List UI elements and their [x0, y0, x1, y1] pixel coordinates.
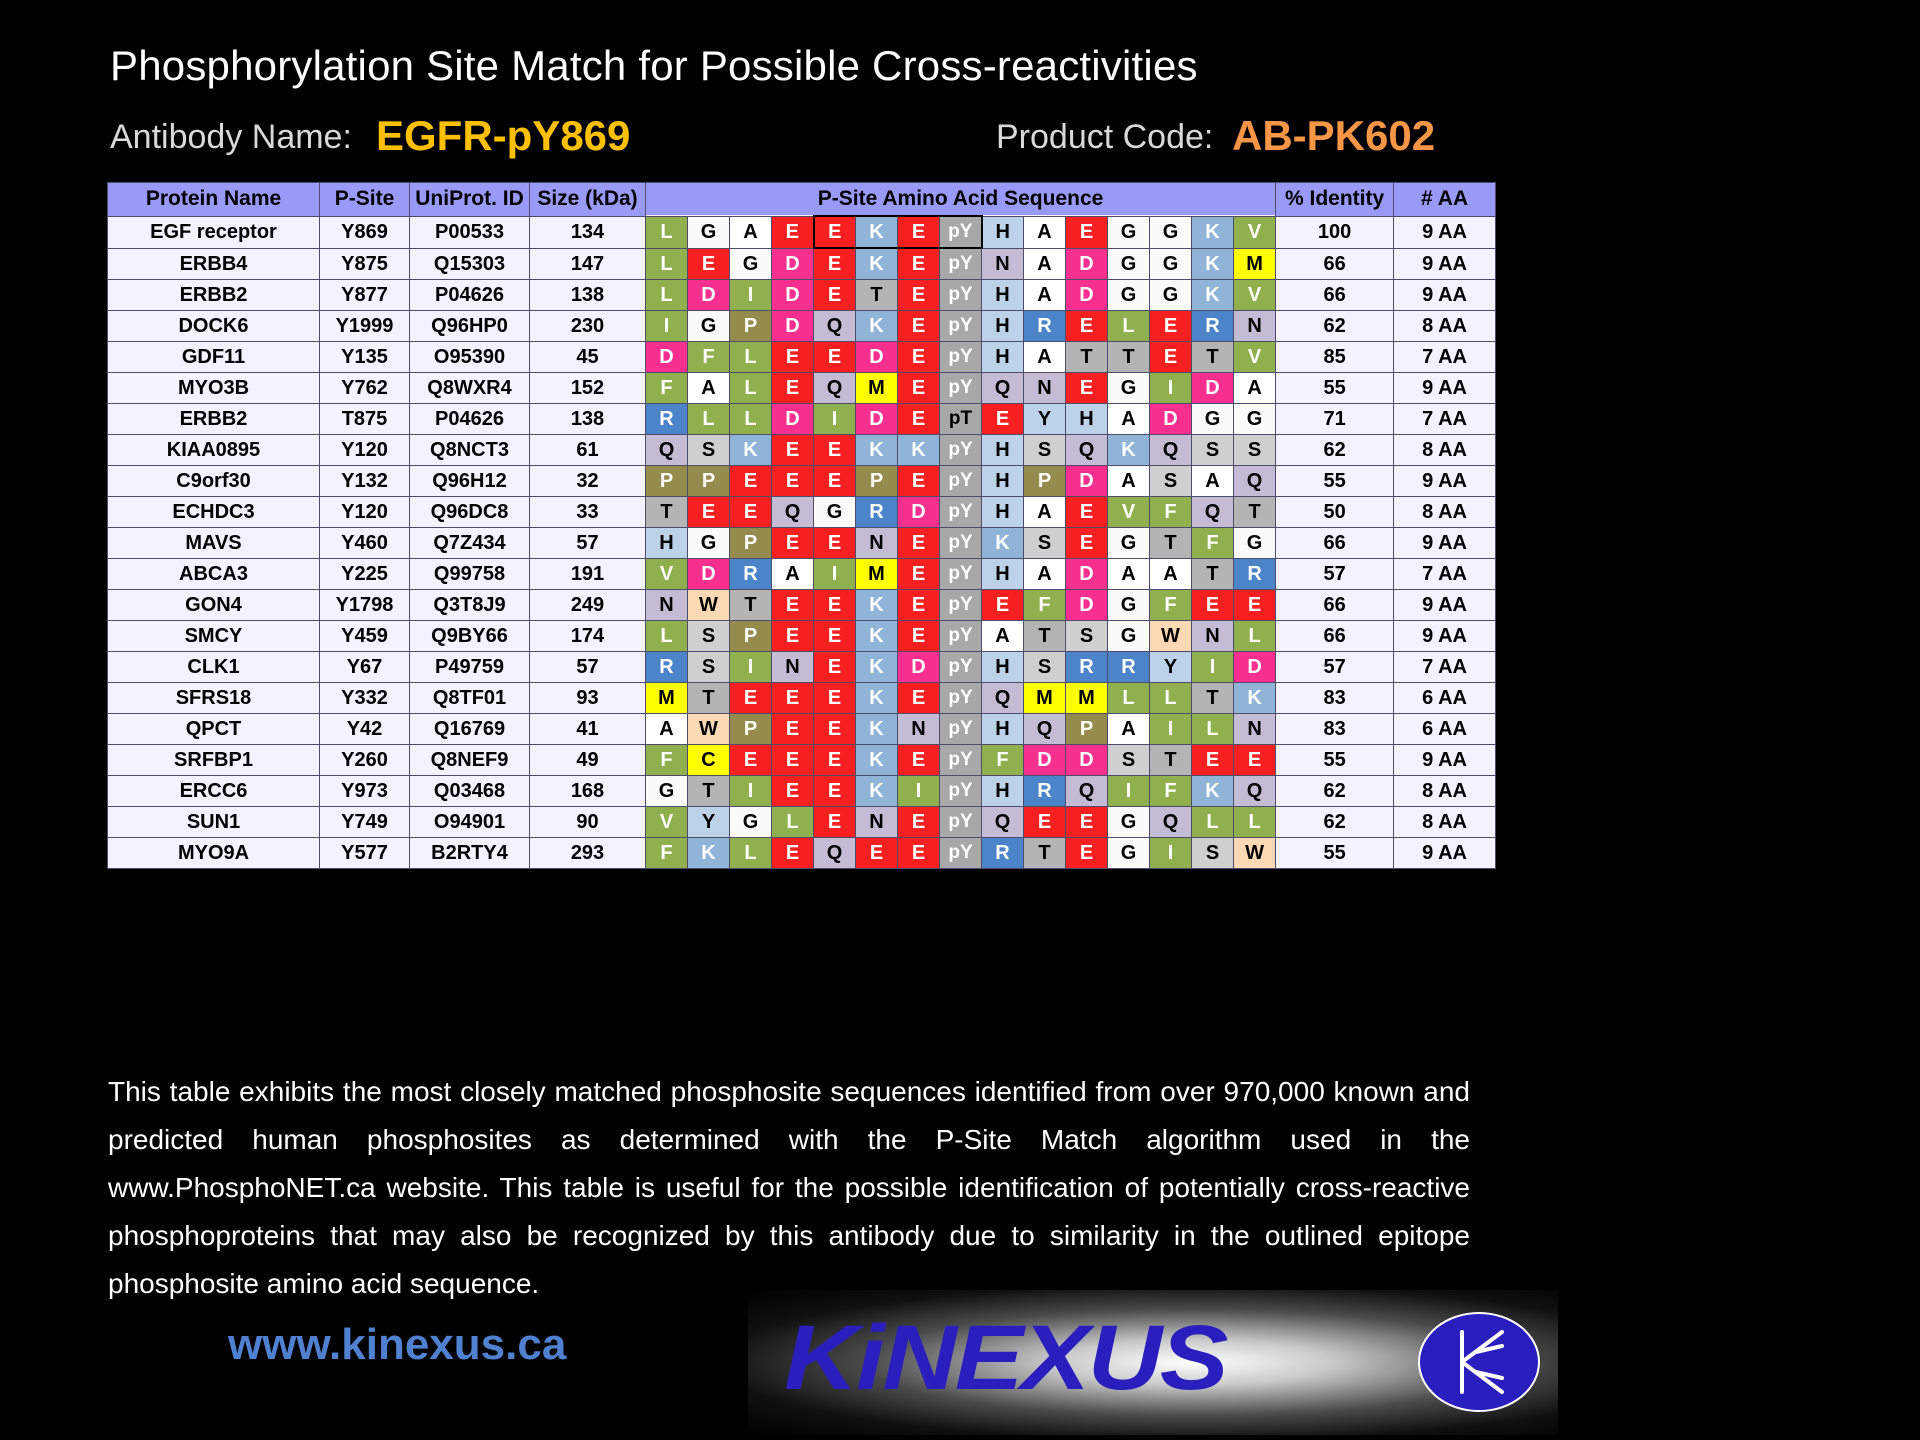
cell-amino-acid: G: [688, 216, 730, 248]
cell-amino-acid: D: [1066, 559, 1108, 590]
cell-num-aa: 7 AA: [1394, 559, 1496, 590]
cell-amino-acid: E: [1066, 311, 1108, 342]
cell-amino-acid: Q: [1150, 807, 1192, 838]
cell-amino-acid: T: [1108, 342, 1150, 373]
table-row: SMCYY459Q9BY66174LSPEEKEpYATSGWNL669 AA: [108, 621, 1496, 652]
cell-amino-acid: K: [856, 216, 898, 248]
cell-protein-name: SMCY: [108, 621, 320, 652]
cell-amino-acid: L: [1192, 714, 1234, 745]
antibody-product-row: Antibody Name: EGFR-pY869 Product Code: …: [110, 112, 1480, 164]
cell-amino-acid: V: [646, 559, 688, 590]
cell-amino-acid: E: [772, 683, 814, 714]
table-row: SRFBP1Y260Q8NEF949FCEEEKEpYFDDSTEE559 AA: [108, 745, 1496, 776]
cell-size-kda: 249: [530, 590, 646, 621]
cell-num-aa: 8 AA: [1394, 435, 1496, 466]
table-row: ECHDC3Y120Q96DC833TEEQGRDpYHAEVFQT508 AA: [108, 497, 1496, 528]
cell-amino-acid: E: [898, 280, 940, 311]
table-header: Protein Name P-Site UniProt. ID Size (kD…: [108, 183, 1496, 217]
table-row: KIAA0895Y120Q8NCT361QSKEEKKpYHSQKQSS628 …: [108, 435, 1496, 466]
cell-amino-acid: N: [856, 807, 898, 838]
cell-amino-acid: E: [1066, 216, 1108, 248]
table-row: GON4Y1798Q3T8J9249NWTEEKEpYEFDGFEE669 AA: [108, 590, 1496, 621]
cell-p-site: Y42: [320, 714, 410, 745]
cell-amino-acid: A: [1150, 559, 1192, 590]
cell-amino-acid: E: [898, 248, 940, 280]
cell-amino-acid: G: [1150, 248, 1192, 280]
cell-amino-acid: W: [1150, 621, 1192, 652]
cell-uniprot-id: Q96DC8: [410, 497, 530, 528]
cell-size-kda: 147: [530, 248, 646, 280]
cell-amino-acid: D: [772, 311, 814, 342]
cell-amino-acid: E: [898, 683, 940, 714]
cell-amino-acid: Y: [688, 807, 730, 838]
cell-uniprot-id: O94901: [410, 807, 530, 838]
cell-p-site: T875: [320, 404, 410, 435]
cell-amino-acid: Q: [814, 838, 856, 869]
cell-amino-acid: D: [1066, 248, 1108, 280]
cell-protein-name: GON4: [108, 590, 320, 621]
cell-amino-acid: L: [1234, 807, 1276, 838]
cell-amino-acid: pY: [940, 342, 982, 373]
cell-amino-acid: K: [856, 714, 898, 745]
cell-amino-acid: E: [1150, 311, 1192, 342]
col-percent-identity: % Identity: [1276, 183, 1394, 217]
product-code-value: AB-PK602: [1232, 112, 1435, 160]
cell-p-site: Y67: [320, 652, 410, 683]
cell-size-kda: 41: [530, 714, 646, 745]
cell-amino-acid: G: [1234, 404, 1276, 435]
cell-amino-acid: E: [772, 528, 814, 559]
cell-amino-acid: E: [898, 528, 940, 559]
cell-amino-acid: D: [1066, 280, 1108, 311]
cell-size-kda: 57: [530, 528, 646, 559]
cell-amino-acid: D: [688, 280, 730, 311]
cell-amino-acid: L: [730, 404, 772, 435]
cell-amino-acid: K: [856, 621, 898, 652]
cell-p-site: Y120: [320, 435, 410, 466]
cell-amino-acid: G: [688, 311, 730, 342]
cell-amino-acid: R: [1024, 311, 1066, 342]
cell-amino-acid: I: [730, 280, 772, 311]
cell-amino-acid: P: [730, 714, 772, 745]
cell-num-aa: 9 AA: [1394, 373, 1496, 404]
cell-amino-acid: A: [1024, 559, 1066, 590]
cell-num-aa: 8 AA: [1394, 497, 1496, 528]
cell-p-site: Y225: [320, 559, 410, 590]
cell-amino-acid: P: [1024, 466, 1066, 497]
cell-amino-acid: G: [646, 776, 688, 807]
cell-amino-acid: R: [1192, 311, 1234, 342]
cell-amino-acid: E: [1234, 590, 1276, 621]
cell-amino-acid: I: [730, 776, 772, 807]
cell-num-aa: 9 AA: [1394, 216, 1496, 248]
cell-amino-acid: pY: [940, 216, 982, 248]
cell-percent-identity: 71: [1276, 404, 1394, 435]
table-row: QPCTY42Q1676941AWPEEKNpYHQPAILN836 AA: [108, 714, 1496, 745]
kinexus-logo-text: KiNEXUS: [784, 1306, 1226, 1411]
logo-k-glyph: [1418, 1312, 1540, 1412]
cell-amino-acid: pY: [940, 280, 982, 311]
cell-amino-acid: G: [1108, 248, 1150, 280]
cell-amino-acid: pY: [940, 652, 982, 683]
cell-p-site: Y459: [320, 621, 410, 652]
cell-amino-acid: V: [1234, 342, 1276, 373]
cell-amino-acid: S: [1108, 745, 1150, 776]
cell-percent-identity: 57: [1276, 559, 1394, 590]
cell-amino-acid: E: [814, 248, 856, 280]
table-row: ERBB2T875P04626138RLLDIDEpTEYHADGG717 AA: [108, 404, 1496, 435]
cell-amino-acid: A: [1024, 280, 1066, 311]
cell-size-kda: 152: [530, 373, 646, 404]
cell-amino-acid: I: [814, 404, 856, 435]
cell-amino-acid: E: [1066, 373, 1108, 404]
cell-num-aa: 8 AA: [1394, 311, 1496, 342]
cell-amino-acid: Q: [1066, 435, 1108, 466]
cell-amino-acid: M: [646, 683, 688, 714]
cell-size-kda: 61: [530, 435, 646, 466]
cell-amino-acid: G: [730, 248, 772, 280]
cell-protein-name: DOCK6: [108, 311, 320, 342]
cell-amino-acid: K: [856, 311, 898, 342]
cell-amino-acid: S: [1192, 435, 1234, 466]
cell-amino-acid: I: [898, 776, 940, 807]
cell-amino-acid: E: [772, 776, 814, 807]
cell-amino-acid: A: [730, 216, 772, 248]
cell-amino-acid: E: [688, 497, 730, 528]
cell-amino-acid: D: [898, 652, 940, 683]
cell-amino-acid: L: [730, 838, 772, 869]
cell-amino-acid: E: [814, 590, 856, 621]
cell-amino-acid: L: [1108, 683, 1150, 714]
cell-protein-name: ERBB2: [108, 280, 320, 311]
kinexus-logo: KiNEXUS: [748, 1290, 1558, 1435]
cell-amino-acid: L: [730, 373, 772, 404]
cell-amino-acid: A: [1108, 559, 1150, 590]
cell-amino-acid: E: [898, 373, 940, 404]
cell-amino-acid: S: [1024, 528, 1066, 559]
cell-amino-acid: D: [1150, 404, 1192, 435]
cell-protein-name: MYO9A: [108, 838, 320, 869]
cell-amino-acid: C: [688, 745, 730, 776]
cell-amino-acid: A: [1024, 248, 1066, 280]
cell-amino-acid: A: [1024, 216, 1066, 248]
cell-amino-acid: P: [730, 621, 772, 652]
cell-protein-name: ERCC6: [108, 776, 320, 807]
cell-amino-acid: K: [1192, 280, 1234, 311]
table-row: DOCK6Y1999Q96HP0230IGPDQKEpYHRELERN628 A…: [108, 311, 1496, 342]
cell-amino-acid: N: [1192, 621, 1234, 652]
cell-percent-identity: 55: [1276, 838, 1394, 869]
table-row: CLK1Y67P4975957RSINEKDpYHSRRYID577 AA: [108, 652, 1496, 683]
cell-amino-acid: M: [856, 373, 898, 404]
cell-size-kda: 138: [530, 404, 646, 435]
cell-amino-acid: D: [772, 248, 814, 280]
cell-amino-acid: Q: [814, 373, 856, 404]
cell-amino-acid: T: [1234, 497, 1276, 528]
cell-amino-acid: A: [1234, 373, 1276, 404]
cell-amino-acid: A: [1108, 714, 1150, 745]
cell-amino-acid: I: [646, 311, 688, 342]
cell-amino-acid: E: [730, 497, 772, 528]
cell-amino-acid: F: [1150, 590, 1192, 621]
cell-amino-acid: F: [1150, 776, 1192, 807]
cell-amino-acid: L: [1150, 683, 1192, 714]
table-row: GDF11Y135O9539045DFLEEDEpYHATTETV857 AA: [108, 342, 1496, 373]
table-header-row: Protein Name P-Site UniProt. ID Size (kD…: [108, 183, 1496, 217]
cell-amino-acid: Q: [1066, 776, 1108, 807]
cell-percent-identity: 50: [1276, 497, 1394, 528]
cell-amino-acid: pY: [940, 807, 982, 838]
cell-amino-acid: D: [1024, 745, 1066, 776]
cell-amino-acid: pT: [940, 404, 982, 435]
cell-percent-identity: 66: [1276, 590, 1394, 621]
cell-amino-acid: K: [856, 248, 898, 280]
cell-amino-acid: G: [1150, 216, 1192, 248]
cell-amino-acid: H: [982, 559, 1024, 590]
cell-amino-acid: E: [1192, 590, 1234, 621]
cell-amino-acid: H: [646, 528, 688, 559]
cell-amino-acid: D: [898, 497, 940, 528]
table-row: MYO3BY762Q8WXR4152FALEQMEpYQNEGIDA559 AA: [108, 373, 1496, 404]
cell-amino-acid: E: [772, 745, 814, 776]
cell-amino-acid: H: [982, 652, 1024, 683]
cell-uniprot-id: Q3T8J9: [410, 590, 530, 621]
cell-amino-acid: S: [688, 652, 730, 683]
cell-num-aa: 9 AA: [1394, 280, 1496, 311]
cell-amino-acid: P: [1066, 714, 1108, 745]
cell-percent-identity: 62: [1276, 807, 1394, 838]
cell-amino-acid: N: [1024, 373, 1066, 404]
cell-amino-acid: D: [1066, 590, 1108, 621]
cell-amino-acid: E: [772, 714, 814, 745]
cell-amino-acid: E: [898, 621, 940, 652]
cell-amino-acid: S: [1066, 621, 1108, 652]
cell-amino-acid: T: [1192, 342, 1234, 373]
cell-uniprot-id: Q8NCT3: [410, 435, 530, 466]
cell-size-kda: 174: [530, 621, 646, 652]
cell-amino-acid: A: [772, 559, 814, 590]
cell-amino-acid: R: [646, 404, 688, 435]
cell-percent-identity: 62: [1276, 435, 1394, 466]
cell-amino-acid: G: [1108, 621, 1150, 652]
cell-amino-acid: K: [688, 838, 730, 869]
cell-amino-acid: T: [646, 497, 688, 528]
cell-amino-acid: E: [1150, 342, 1192, 373]
cell-amino-acid: N: [898, 714, 940, 745]
cell-protein-name: ECHDC3: [108, 497, 320, 528]
cell-amino-acid: E: [898, 466, 940, 497]
cell-amino-acid: H: [1066, 404, 1108, 435]
cell-amino-acid: I: [814, 559, 856, 590]
cell-amino-acid: E: [1024, 807, 1066, 838]
cell-uniprot-id: Q99758: [410, 559, 530, 590]
cell-amino-acid: S: [1192, 838, 1234, 869]
cell-amino-acid: L: [1108, 311, 1150, 342]
cell-amino-acid: M: [856, 559, 898, 590]
col-p-site: P-Site: [320, 183, 410, 217]
cell-size-kda: 230: [530, 311, 646, 342]
cell-amino-acid: R: [982, 838, 1024, 869]
cell-amino-acid: pY: [940, 745, 982, 776]
cell-size-kda: 134: [530, 216, 646, 248]
cell-amino-acid: pY: [940, 559, 982, 590]
cell-size-kda: 57: [530, 652, 646, 683]
cell-amino-acid: G: [1108, 838, 1150, 869]
cell-amino-acid: E: [898, 807, 940, 838]
cell-num-aa: 9 AA: [1394, 466, 1496, 497]
cell-amino-acid: Q: [1150, 435, 1192, 466]
cell-p-site: Y260: [320, 745, 410, 776]
cell-amino-acid: I: [1150, 714, 1192, 745]
cell-num-aa: 9 AA: [1394, 838, 1496, 869]
cell-percent-identity: 100: [1276, 216, 1394, 248]
cell-amino-acid: G: [1108, 807, 1150, 838]
cell-amino-acid: S: [688, 435, 730, 466]
cell-amino-acid: E: [814, 776, 856, 807]
cell-percent-identity: 85: [1276, 342, 1394, 373]
cell-size-kda: 90: [530, 807, 646, 838]
cell-amino-acid: N: [772, 652, 814, 683]
cell-amino-acid: P: [730, 311, 772, 342]
table-row: ERCC6Y973Q03468168GTIEEKIpYHRQIFKQ628 AA: [108, 776, 1496, 807]
cell-percent-identity: 66: [1276, 248, 1394, 280]
cell-amino-acid: E: [772, 466, 814, 497]
cell-protein-name: C9orf30: [108, 466, 320, 497]
cell-amino-acid: T: [730, 590, 772, 621]
cell-amino-acid: F: [646, 373, 688, 404]
cell-amino-acid: Q: [772, 497, 814, 528]
cell-uniprot-id: Q96H12: [410, 466, 530, 497]
cell-amino-acid: E: [772, 435, 814, 466]
cell-amino-acid: F: [688, 342, 730, 373]
website-link[interactable]: www.kinexus.ca: [228, 1320, 566, 1370]
cell-uniprot-id: O95390: [410, 342, 530, 373]
cell-amino-acid: H: [982, 342, 1024, 373]
cell-amino-acid: E: [898, 559, 940, 590]
cell-amino-acid: E: [982, 590, 1024, 621]
cell-amino-acid: S: [688, 621, 730, 652]
cell-amino-acid: E: [814, 714, 856, 745]
description-paragraph: This table exhibits the most closely mat…: [108, 1068, 1470, 1308]
cell-amino-acid: D: [1066, 466, 1108, 497]
col-size-kda: Size (kDa): [530, 183, 646, 217]
cell-protein-name: SUN1: [108, 807, 320, 838]
cell-amino-acid: G: [1150, 280, 1192, 311]
cell-amino-acid: G: [814, 497, 856, 528]
cell-amino-acid: pY: [940, 311, 982, 342]
cell-amino-acid: F: [982, 745, 1024, 776]
cell-amino-acid: Q: [1192, 497, 1234, 528]
table-row: ABCA3Y225Q99758191VDRAIMEpYHADAATR577 AA: [108, 559, 1496, 590]
cell-amino-acid: K: [856, 683, 898, 714]
cell-uniprot-id: Q03468: [410, 776, 530, 807]
cell-uniprot-id: P49759: [410, 652, 530, 683]
cell-amino-acid: pY: [940, 435, 982, 466]
cell-amino-acid: T: [1150, 528, 1192, 559]
cell-protein-name: EGF receptor: [108, 216, 320, 248]
cell-num-aa: 7 AA: [1394, 342, 1496, 373]
cell-amino-acid: K: [856, 590, 898, 621]
cell-amino-acid: V: [1234, 216, 1276, 248]
cell-amino-acid: T: [1192, 559, 1234, 590]
cell-size-kda: 168: [530, 776, 646, 807]
cell-amino-acid: T: [1150, 745, 1192, 776]
cell-protein-name: MYO3B: [108, 373, 320, 404]
cell-num-aa: 9 AA: [1394, 248, 1496, 280]
cell-protein-name: SRFBP1: [108, 745, 320, 776]
cell-amino-acid: K: [730, 435, 772, 466]
cell-amino-acid: N: [856, 528, 898, 559]
cell-amino-acid: H: [982, 435, 1024, 466]
cell-amino-acid: H: [982, 466, 1024, 497]
cell-amino-acid: I: [1150, 373, 1192, 404]
cell-amino-acid: R: [646, 652, 688, 683]
cell-amino-acid: P: [730, 528, 772, 559]
cell-percent-identity: 62: [1276, 311, 1394, 342]
cell-amino-acid: K: [982, 528, 1024, 559]
col-uniprot-id: UniProt. ID: [410, 183, 530, 217]
cell-p-site: Y332: [320, 683, 410, 714]
cell-amino-acid: F: [1192, 528, 1234, 559]
cell-amino-acid: R: [1234, 559, 1276, 590]
cell-amino-acid: Q: [982, 683, 1024, 714]
cell-amino-acid: N: [1234, 311, 1276, 342]
cell-percent-identity: 55: [1276, 466, 1394, 497]
cell-amino-acid: G: [1192, 404, 1234, 435]
cell-amino-acid: H: [982, 776, 1024, 807]
cell-uniprot-id: Q8WXR4: [410, 373, 530, 404]
cell-amino-acid: V: [1234, 280, 1276, 311]
cell-p-site: Y132: [320, 466, 410, 497]
cell-amino-acid: G: [1234, 528, 1276, 559]
cell-p-site: Y877: [320, 280, 410, 311]
cell-amino-acid: T: [856, 280, 898, 311]
cell-size-kda: 33: [530, 497, 646, 528]
cell-amino-acid: K: [856, 435, 898, 466]
cell-amino-acid: pY: [940, 528, 982, 559]
cell-amino-acid: K: [1108, 435, 1150, 466]
table-row: ERBB4Y875Q15303147LEGDEKEpYNADGGKM669 AA: [108, 248, 1496, 280]
cell-amino-acid: E: [898, 404, 940, 435]
cell-amino-acid: pY: [940, 621, 982, 652]
cell-amino-acid: pY: [940, 714, 982, 745]
cell-percent-identity: 62: [1276, 776, 1394, 807]
cell-uniprot-id: P04626: [410, 404, 530, 435]
cell-amino-acid: E: [898, 590, 940, 621]
cell-amino-acid: pY: [940, 590, 982, 621]
cell-amino-acid: E: [814, 435, 856, 466]
cell-amino-acid: pY: [940, 466, 982, 497]
cell-amino-acid: pY: [940, 838, 982, 869]
cell-p-site: Y120: [320, 497, 410, 528]
cell-protein-name: SFRS18: [108, 683, 320, 714]
cell-size-kda: 32: [530, 466, 646, 497]
cell-amino-acid: R: [1108, 652, 1150, 683]
cell-p-site: Y577: [320, 838, 410, 869]
cell-amino-acid: pY: [940, 248, 982, 280]
cell-amino-acid: E: [1234, 745, 1276, 776]
table-row: C9orf30Y132Q96H1232PPEEEPEpYHPDASAQ559 A…: [108, 466, 1496, 497]
table-row: MAVSY460Q7Z43457HGPEENEpYKSEGTFG669 AA: [108, 528, 1496, 559]
cell-amino-acid: K: [1192, 776, 1234, 807]
cell-amino-acid: T: [1192, 683, 1234, 714]
cell-amino-acid: E: [814, 466, 856, 497]
cell-p-site: Y762: [320, 373, 410, 404]
k-monogram-icon: [1418, 1312, 1540, 1412]
cell-amino-acid: T: [1024, 621, 1066, 652]
cell-amino-acid: K: [898, 435, 940, 466]
cell-amino-acid: P: [856, 466, 898, 497]
